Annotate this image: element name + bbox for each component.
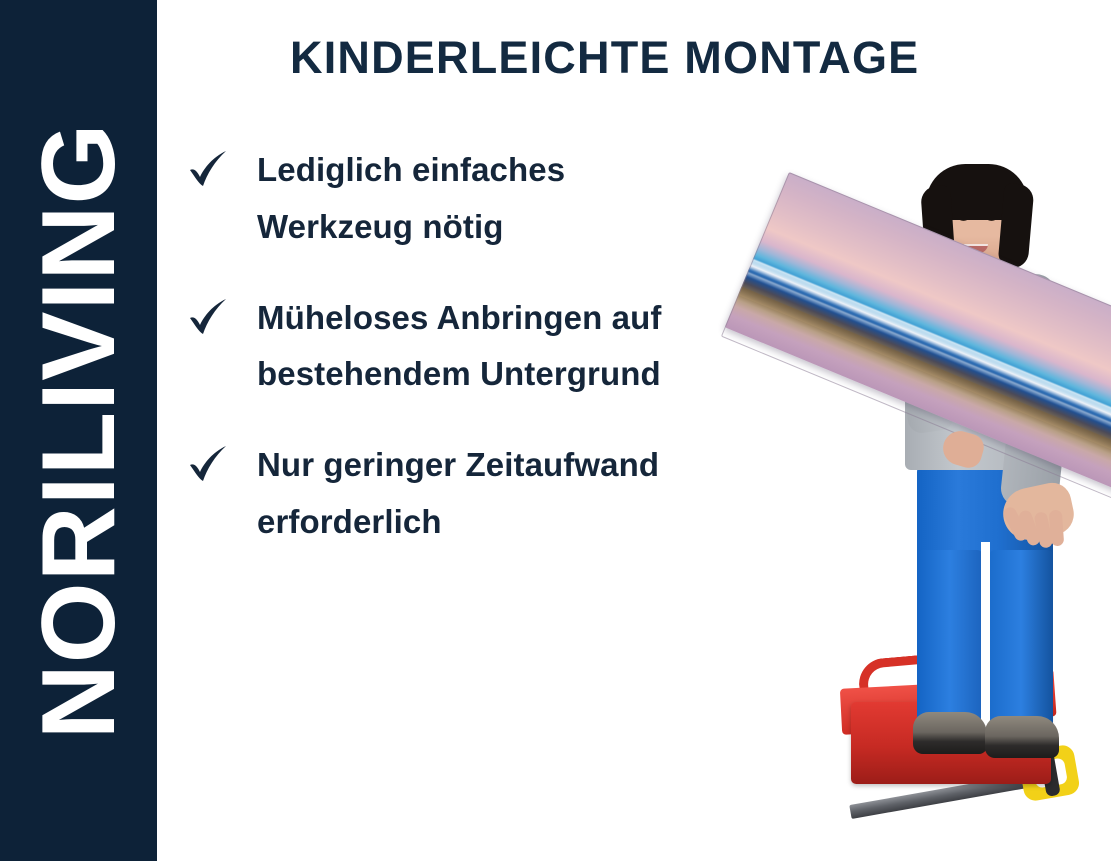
infographic-page: NORILIVING KINDERLEICHTE MONTAGE Ledigli… [0,0,1111,861]
check-mark-icon [185,294,231,340]
page-title: KINDERLEICHTE MONTAGE [290,34,1070,81]
content-area: KINDERLEICHTE MONTAGE Lediglich einfache… [157,0,1111,861]
check-mark-icon [185,441,231,487]
worker-boot-right [985,716,1059,758]
worker-hair-side-right [997,183,1034,269]
worker-leg-gap [981,542,990,732]
list-item-label: Lediglich einfaches Werkzeug nötig [257,142,657,256]
worker-finger [1049,510,1064,547]
worker-boot-left [913,712,987,754]
worker-leg-left [917,550,983,736]
list-item-label: Müheloses Anbringen auf bestehendem Unte… [257,290,677,404]
product-photo [617,150,1111,861]
check-mark-icon [185,146,231,192]
worker-leg-right [989,550,1053,736]
brand-wordmark: NORILIVING [27,122,131,739]
brand-band: NORILIVING [0,0,157,861]
